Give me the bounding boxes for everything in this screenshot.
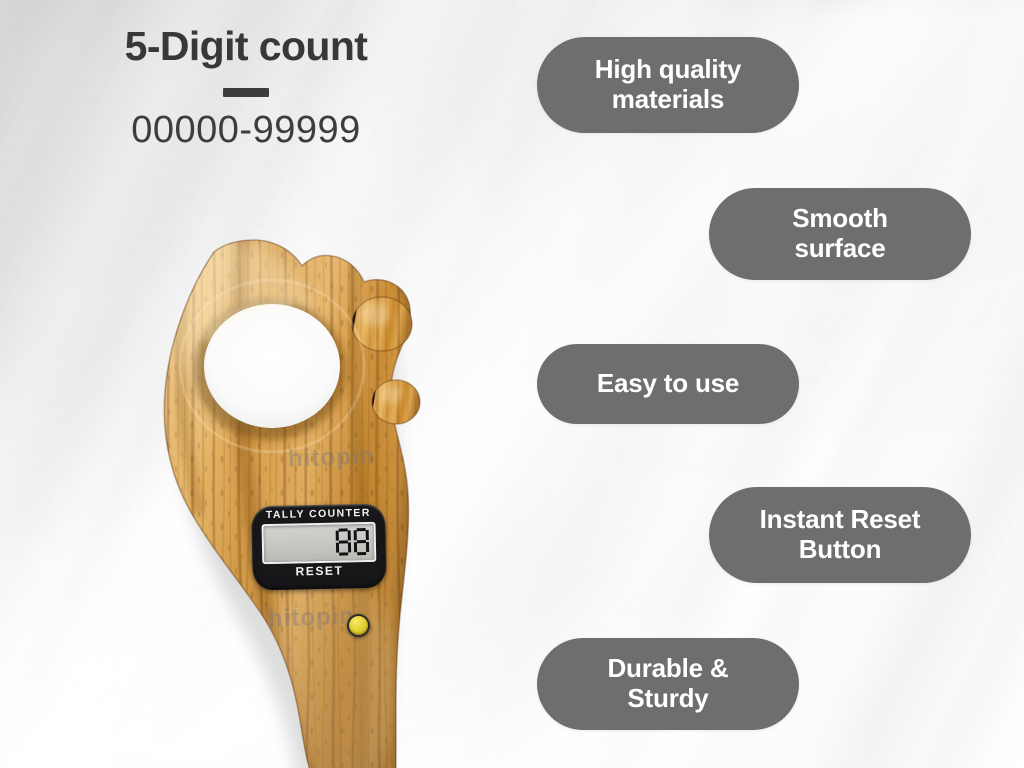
- lcd-digit: [354, 527, 370, 555]
- lcd-segment-c: [348, 543, 352, 553]
- counter-body: [96, 214, 516, 768]
- feature-pill-label: Smooth surface: [792, 204, 888, 263]
- count-range-text: 00000-99999: [0, 111, 492, 151]
- lcd-digit: [336, 528, 352, 556]
- lcd-segment-g: [356, 540, 366, 544]
- headline-block: 5-Digit count 00000-99999: [0, 24, 492, 151]
- lcd-segment-b: [347, 530, 351, 540]
- lcd-segment-f: [336, 531, 340, 541]
- reset-button[interactable]: [347, 614, 370, 637]
- lcd-segment-g: [338, 540, 348, 544]
- lcd-digit-group: [336, 527, 370, 556]
- feature-pill-high-quality-materials[interactable]: High quality materials: [537, 37, 799, 133]
- feature-pill-label: Easy to use: [597, 369, 739, 399]
- lcd-segment-e: [354, 543, 358, 553]
- display-caption: TALLY COUNTER: [266, 508, 371, 521]
- feature-pill-instant-reset-button[interactable]: Instant Reset Button: [709, 487, 971, 583]
- product-image: [96, 214, 516, 768]
- finger-ring-hole: [194, 300, 346, 440]
- feature-pill-easy-to-use[interactable]: Easy to use: [537, 344, 799, 424]
- lcd-segment-d: [339, 552, 349, 556]
- headline-divider: [223, 88, 269, 97]
- page-title: 5-Digit count: [0, 24, 492, 68]
- reset-label: RESET: [295, 564, 343, 577]
- lcd-screen: [261, 521, 376, 563]
- lcd-segment-f: [354, 530, 358, 540]
- feature-pill-label: High quality materials: [595, 55, 741, 114]
- lcd-segment-b: [365, 530, 369, 540]
- feature-pill-label: Instant Reset Button: [760, 505, 921, 564]
- feature-pill-label: Durable & Sturdy: [607, 654, 728, 713]
- feature-pill-durable-and-sturdy[interactable]: Durable & Sturdy: [537, 638, 799, 730]
- product-feature-graphic: 5-Digit count 00000-99999: [0, 0, 1024, 768]
- lcd-segment-d: [357, 552, 367, 556]
- lcd-segment-c: [366, 542, 370, 552]
- feature-pill-smooth-surface[interactable]: Smooth surface: [709, 188, 971, 280]
- lcd-segment-e: [336, 543, 340, 553]
- tally-counter-display: TALLY COUNTER RESET: [251, 504, 387, 591]
